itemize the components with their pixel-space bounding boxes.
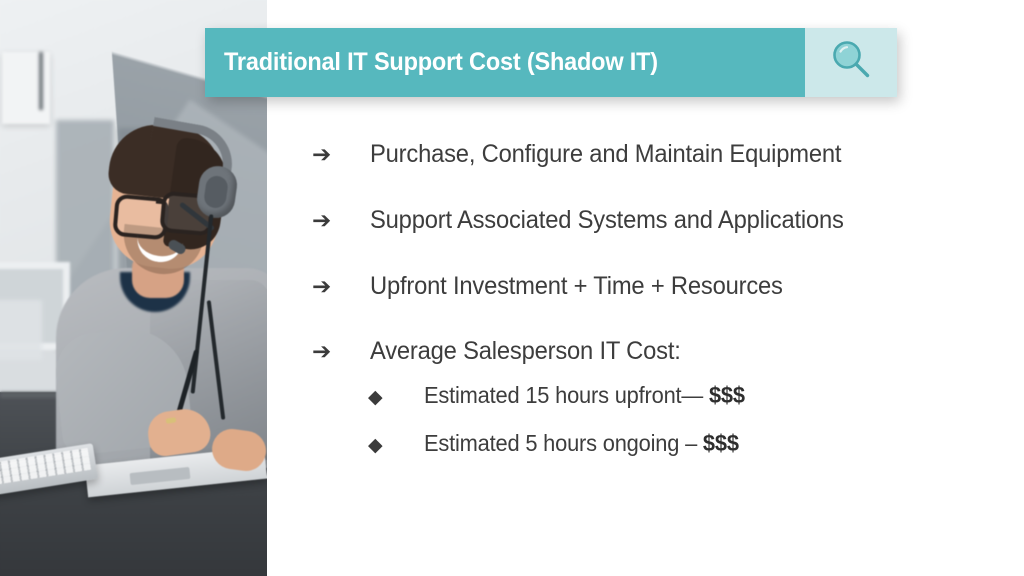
title-banner-main: Traditional IT Support Cost (Shadow IT) — [205, 28, 805, 97]
diamond-icon: ◆ — [368, 388, 424, 407]
slide-root: Traditional IT Support Cost (Shadow IT) … — [0, 0, 1024, 576]
arrow-icon: ➔ — [312, 144, 370, 167]
list-item: ➔ Upfront Investment + Time + Resources — [312, 272, 992, 301]
photo-glasses-bridge — [156, 200, 166, 205]
title-banner-icon-box — [805, 28, 897, 97]
sub-list-item-text: Estimated 15 hours upfront— — [424, 382, 709, 408]
bullet-content: ➔ Purchase, Configure and Maintain Equip… — [312, 140, 992, 479]
sub-list-item-label: Estimated 5 hours ongoing – $$$ — [424, 430, 739, 456]
cost-emphasis: $$$ — [703, 430, 739, 456]
list-item-label: Average Salesperson IT Cost: — [370, 337, 681, 366]
list-item-label: Upfront Investment + Time + Resources — [370, 272, 783, 301]
list-item: ➔ Purchase, Configure and Maintain Equip… — [312, 140, 992, 169]
list-item-label: Support Associated Systems and Applicati… — [370, 206, 844, 235]
arrow-icon: ➔ — [312, 276, 370, 299]
photo-wall-frame — [2, 52, 50, 124]
sub-list-item-label: Estimated 15 hours upfront— $$$ — [424, 382, 745, 408]
photo-shelf-secondary — [0, 300, 42, 360]
arrow-icon: ➔ — [312, 341, 370, 364]
list-item-label: Purchase, Configure and Maintain Equipme… — [370, 140, 841, 169]
cost-emphasis: $$$ — [709, 382, 745, 408]
list-item: ➔ Average Salesperson IT Cost: — [312, 337, 992, 366]
sub-list-item: ◆ Estimated 5 hours ongoing – $$$ — [368, 430, 992, 456]
sub-list-item-text: Estimated 5 hours ongoing – — [424, 430, 703, 456]
title-banner: Traditional IT Support Cost (Shadow IT) — [205, 28, 897, 97]
photo-frame-stem — [39, 52, 43, 110]
arrow-icon: ➔ — [312, 210, 370, 233]
sub-list-item: ◆ Estimated 15 hours upfront— $$$ — [368, 382, 992, 408]
diamond-icon: ◆ — [368, 436, 424, 455]
slide-title: Traditional IT Support Cost (Shadow IT) — [224, 48, 658, 77]
magnifier-icon — [828, 37, 874, 88]
list-item: ➔ Support Associated Systems and Applica… — [312, 206, 992, 235]
